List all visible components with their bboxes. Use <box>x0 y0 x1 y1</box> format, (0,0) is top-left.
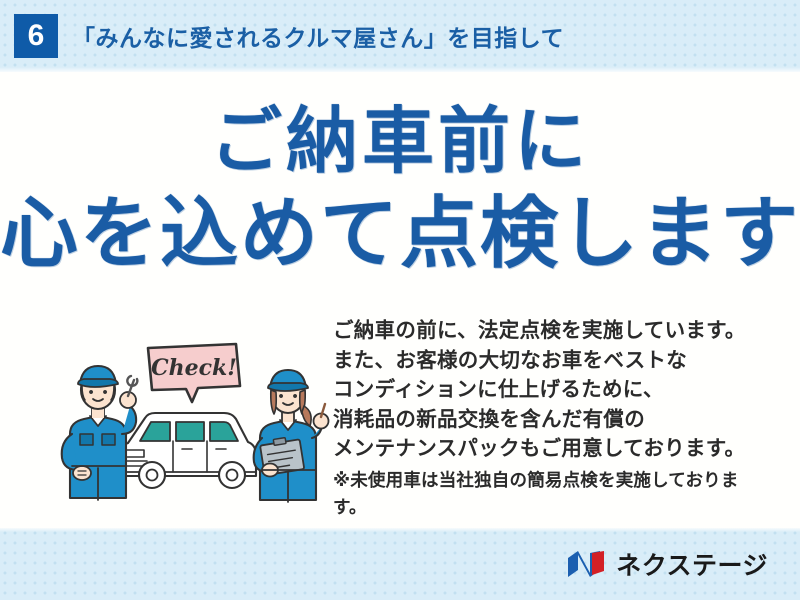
page-header: 6 「みんなに愛されるクルマ屋さん」を目指して <box>0 0 800 72</box>
description-line-4: 消耗品の新品交換を含んだ有償の <box>333 408 645 431</box>
headline-line-1: ご納車前に <box>0 106 800 178</box>
description-line-2: また、お客様の大切なお車をベストな <box>333 349 687 372</box>
female-mechanic <box>254 370 329 502</box>
van-illustration <box>120 413 256 488</box>
page-footer: ネクステージ <box>0 528 800 600</box>
page-title: ご納車前に 心を込めて点検します <box>0 106 800 272</box>
description-line-1: ご納車の前に、法定点検を実施しています。 <box>333 319 746 342</box>
headline-line-2: 心を込めて点検します <box>0 194 800 272</box>
header-title: 「みんなに愛されるクルマ屋さん」を目指して <box>72 19 564 53</box>
nextage-n-icon <box>566 549 608 579</box>
male-mechanic <box>62 366 138 500</box>
description-line-5: メンテナンスパックもご用意しております。 <box>333 437 745 460</box>
brand-logo: ネクステージ <box>566 546 768 582</box>
step-number-badge: 6 <box>14 14 58 58</box>
speech-bubble-label: Check! <box>151 355 237 381</box>
description-line-3: コンディションに仕上げるために、 <box>333 378 664 401</box>
description-note: ※未使用車は当社独自の簡易点検を実施しております。 <box>333 467 763 521</box>
brand-name-label: ネクステージ <box>616 546 768 582</box>
description-text: ご納車の前に、法定点検を実施しています。 また、お客様の大切なお車をベストな コ… <box>333 316 763 521</box>
promo-page: 6 「みんなに愛されるクルマ屋さん」を目指して ご納車前に 心を込めて点検します <box>0 0 800 600</box>
mechanics-illustration: Check! <box>48 330 333 515</box>
